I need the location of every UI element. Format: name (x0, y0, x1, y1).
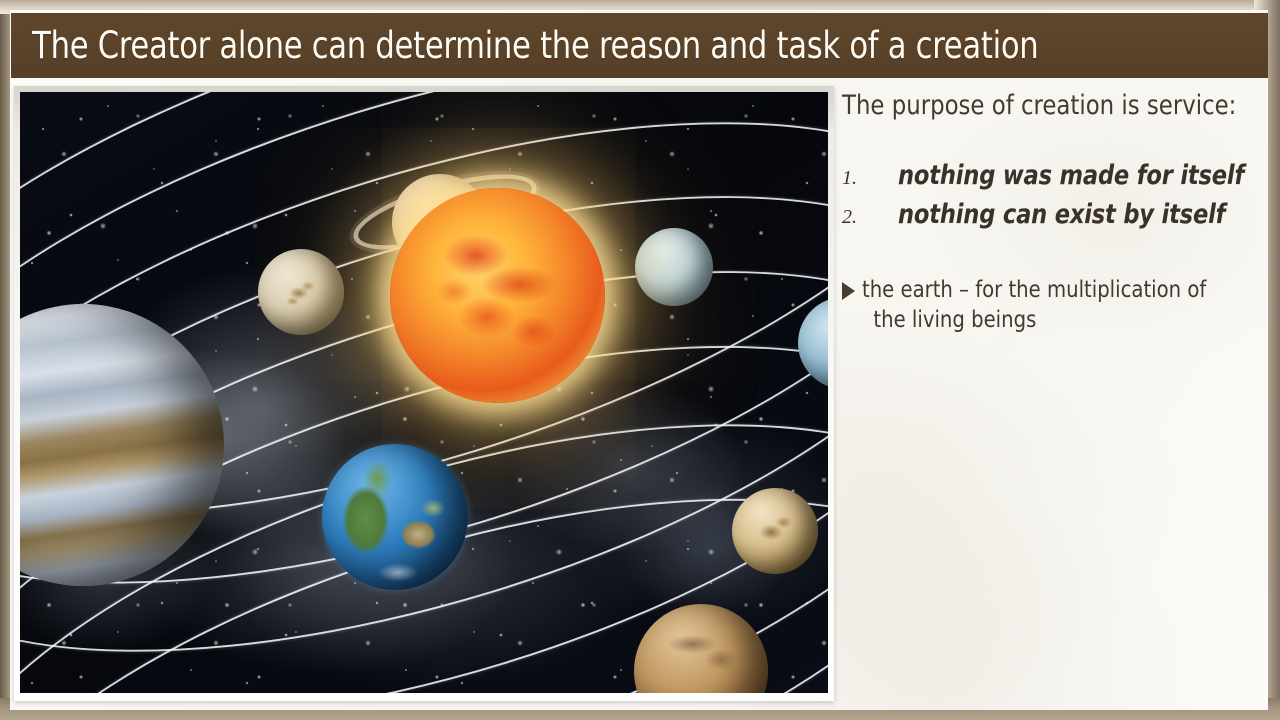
solar-system-illustration (20, 92, 828, 693)
planet-venus (732, 488, 818, 574)
slide-canvas: The Creator alone can determine the reas… (10, 10, 1268, 710)
sun (390, 188, 605, 403)
planet-mars-surface (645, 615, 758, 693)
slide-title-bar: The Creator alone can determine the reas… (11, 13, 1268, 78)
numbered-list: 1. nothing was made for itself 2. nothin… (842, 160, 1254, 230)
planet-uranus (635, 228, 713, 306)
planet-mercury-surface (272, 263, 331, 322)
list-item-label: nothing can exist by itself (898, 199, 1225, 230)
planet-mars (634, 604, 768, 693)
planet-earth (322, 444, 468, 590)
list-item: 2. nothing can exist by itself (842, 199, 1254, 230)
list-item: 1. nothing was made for itself (842, 160, 1254, 191)
planet-venus-surface (744, 500, 806, 562)
planet-mercury (258, 249, 344, 335)
list-item-marker: 1. (842, 167, 898, 190)
list-item-label: nothing was made for itself (898, 160, 1244, 191)
arrow-bullet-line-1: the earth – for the multiplication of (862, 277, 1206, 303)
planet-neptune (798, 297, 828, 389)
slide-title: The Creator alone can determine the reas… (11, 24, 1038, 67)
arrow-bullet-text: the earth – for the multiplication of th… (862, 276, 1234, 336)
planet-earth-continents (322, 444, 468, 590)
lead-statement: The purpose of creation is service: (842, 90, 1229, 122)
triangle-bullet-icon (842, 282, 862, 300)
content-panel: The purpose of creation is service: 1. n… (842, 90, 1254, 690)
slide-frame: The Creator alone can determine the reas… (0, 0, 1280, 720)
picture-frame (14, 86, 834, 701)
planet-jupiter (20, 304, 224, 586)
arrow-bullet-line-2: the living beings (862, 306, 1234, 336)
arrow-bullet-item: the earth – for the multiplication of th… (842, 276, 1254, 336)
sun-surface (407, 205, 588, 386)
list-item-marker: 2. (842, 206, 898, 229)
